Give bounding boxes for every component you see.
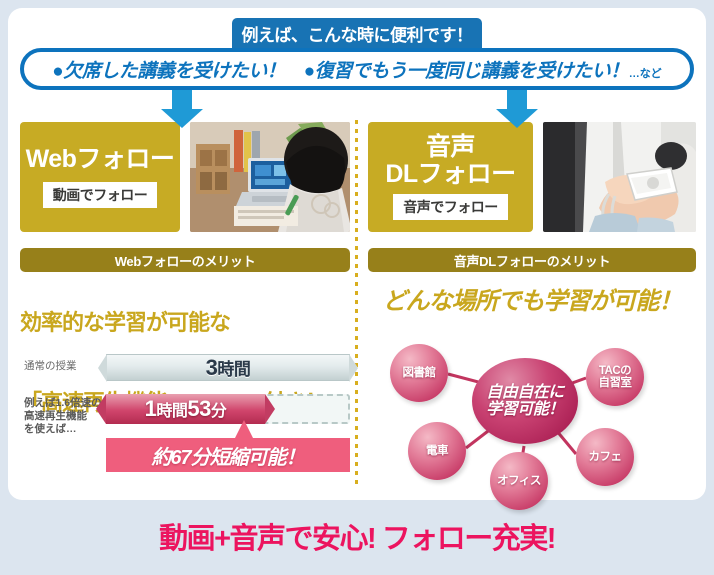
header-pill-main: ●欠席した講義を受けたい！ ●復習でもう一度同じ講義を受けたい！ [52,56,628,83]
chart-row-label-fast: 例えば1.6倍速の 高速再生機能 を使えば… [24,397,102,436]
panel-web-follow: Webフォロー 動画でフォロー [20,122,350,232]
merit-bar-left: Webフォローのメリット [20,248,350,272]
photo-student-laptop [190,122,350,232]
chart-bar-normal: 3時間 [106,354,350,381]
merit-title-left-line1: 効率的な学習が可能な [20,310,350,336]
infographic-root: 例えば、こんな時に便利です！ ●欠席した講義を受けたい！ ●復習でもう一度同じ講… [0,0,714,575]
web-follow-title: Webフォロー [26,146,175,173]
arrow-shaft [172,90,192,110]
arrow-head [161,109,203,128]
chart-bar-fast-minutes: 53 [187,396,210,421]
merit-title-right: どんな場所でも学習が可能！ [368,288,696,317]
web-follow-chip: 動画でフォロー [43,182,158,208]
chart-bar-normal-number: 3 [206,355,218,380]
panel-right-head: 音声 DLフォロー 音声でフォロー [368,122,696,232]
merit-bar-right: 音声DLフォローのメリット [368,248,696,272]
footer-banner: 動画+音声で安心! フォロー充実! [0,508,714,564]
panel-audio-dl-follow: 音声 DLフォロー 音声でフォロー [368,122,696,232]
arrow-shaft [507,90,527,110]
footer-banner-text: 動画+音声で安心! フォロー充実! [159,515,555,557]
audio-follow-badge: 音声 DLフォロー 音声でフォロー [368,122,533,232]
speed-comparison-chart: 通常の授業 3時間 例えば1.6倍速の 高速再生機能 を使えば… 1時間53分 … [20,352,350,482]
web-follow-badge: Webフォロー 動画でフォロー [20,122,180,232]
vertical-dotted-divider [355,120,358,485]
header-tab: 例えば、こんな時に便利です！ [232,18,482,48]
bubble-office: オフィス [490,452,548,510]
merit-bar-right-label: 音声DLフォローのメリット [454,251,610,270]
audio-follow-chip: 音声でフォロー [393,194,508,220]
bubble-train: 電車 [408,422,466,480]
chart-row-label-normal: 通常の授業 [24,360,77,373]
down-arrow-icon-left [161,90,203,130]
bubble-center: 自由自在に 学習可能！ [472,358,578,444]
arrow-head [496,109,538,128]
panel-left-head: Webフォロー 動画でフォロー [20,122,350,232]
merit-bar-left-label: Webフォローのメリット [115,251,256,270]
header-pill: ●欠席した講義を受けたい！ ●復習でもう一度同じ講義を受けたい！ …など [20,48,694,90]
bubble-cafe: カフェ [576,428,634,486]
header-pill-suffix: …など [629,65,662,86]
down-arrow-icon-right [496,90,538,130]
chart-annotation-banner: 約67分短縮可能！ [106,438,350,472]
chart-bar-fast-value: 1時間53分 [145,396,227,422]
photo-hand-music-player [543,122,696,232]
chart-annotation-pointer [234,420,254,440]
audio-follow-title: 音声 DLフォロー [385,134,515,187]
header-tab-label: 例えば、こんな時に便利です！ [242,21,473,46]
chart-annotation-text: 約67分短縮可能！ [151,441,304,470]
chart-bar-fast-hours: 1 [145,396,157,421]
chart-bar-normal-value: 3時間 [206,355,251,381]
bubble-library: 図書館 [390,344,448,402]
bubble-tac-study-room: TACの 自習室 [586,348,644,406]
